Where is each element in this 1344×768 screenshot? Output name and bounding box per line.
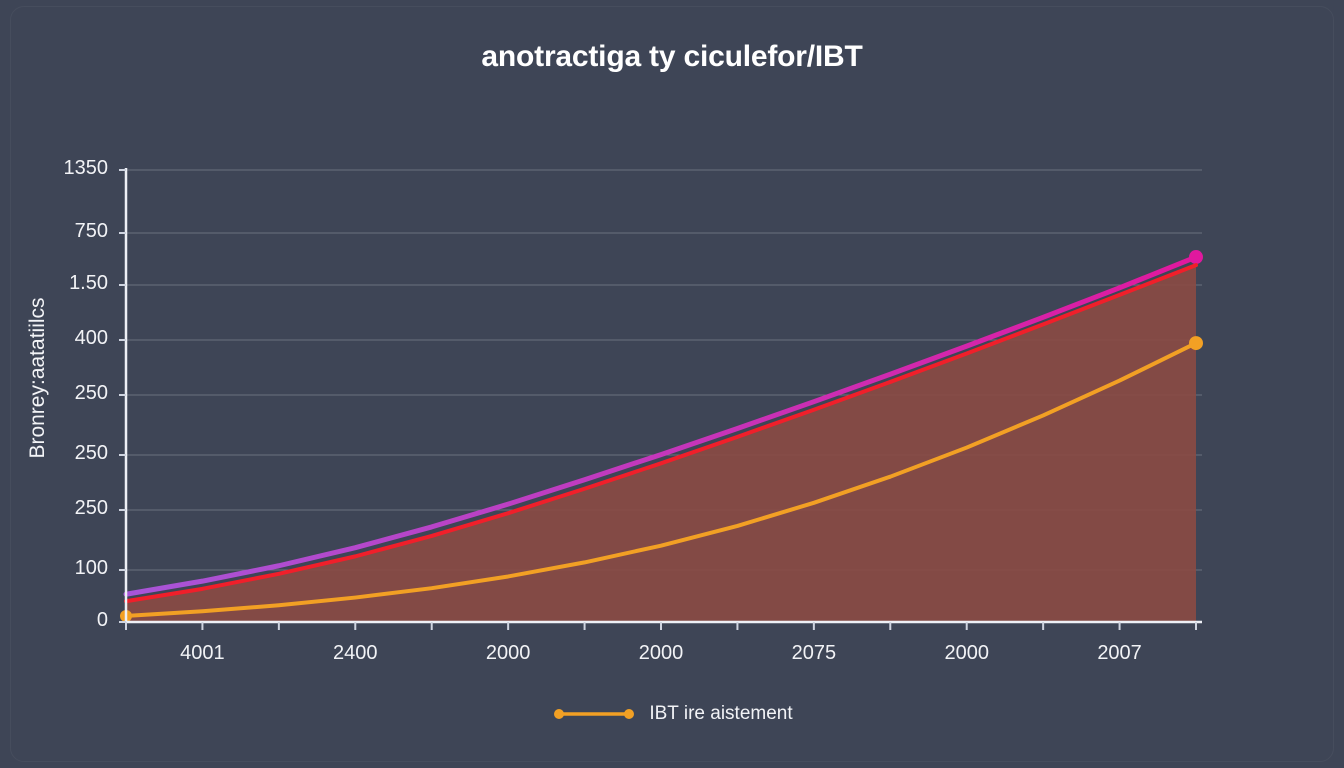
chart-legend: IBT ire aistement [0, 703, 1344, 725]
y-tick-label: 750 [0, 220, 108, 243]
y-tick-label: 1.50 [0, 272, 108, 295]
y-tick-label: 250 [0, 382, 108, 405]
x-tick-label: 4001 [142, 642, 262, 665]
x-tick-label: 2007 [1060, 642, 1180, 665]
y-tick-label: 0 [0, 609, 108, 632]
x-tick-label: 2400 [295, 642, 415, 665]
chart-figure: anotractiga ty ciculefor/IBT Bronrey:aat… [0, 0, 1344, 768]
x-tick-label: 2000 [601, 642, 721, 665]
x-tick-label: 2000 [907, 642, 1027, 665]
y-tick-label: 250 [0, 442, 108, 465]
y-tick-label: 100 [0, 557, 108, 580]
series-endpoint-marker [1189, 250, 1203, 264]
x-tick-label: 2075 [754, 642, 874, 665]
legend-item-label: IBT ire aistement [649, 703, 792, 725]
x-tick-label: 2000 [448, 642, 568, 665]
series-endpoint-marker [1189, 336, 1203, 350]
y-tick-label: 1350 [0, 157, 108, 180]
y-tick-label: 400 [0, 327, 108, 350]
legend-marker-icon [551, 706, 637, 722]
y-tick-label: 250 [0, 497, 108, 520]
